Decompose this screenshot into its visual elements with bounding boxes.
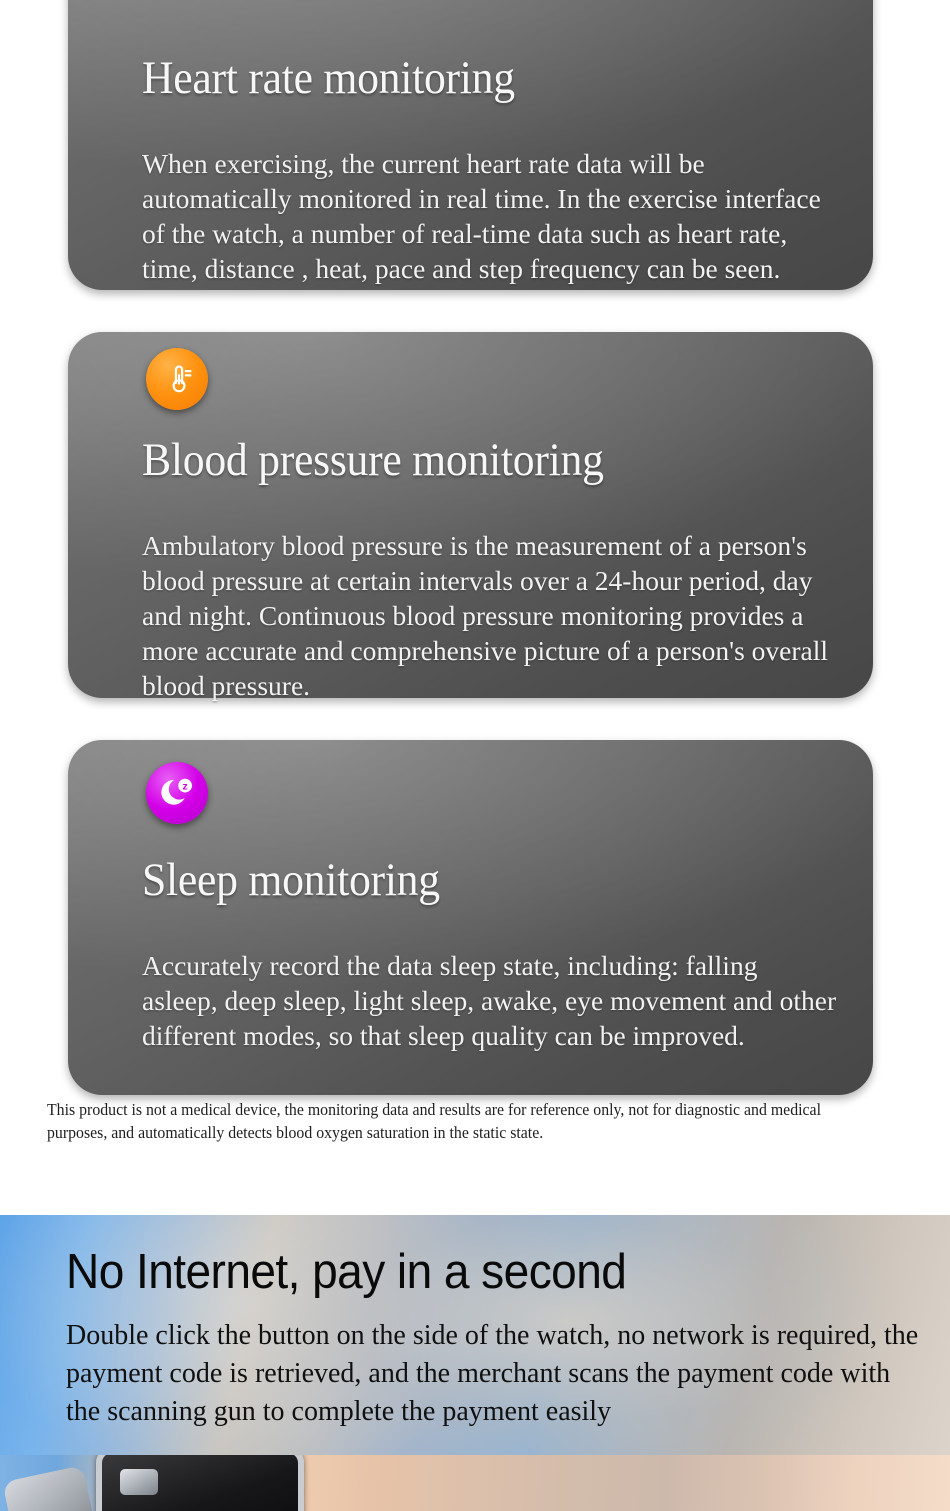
payment-banner: No Internet, pay in a second Double clic… — [0, 1215, 950, 1511]
feature-card-blood-pressure: Blood pressure monitoring Ambulatory blo… — [68, 332, 873, 698]
feature-card-sleep: z Sleep monitoring Accurately record the… — [68, 740, 873, 1095]
card-body: Ambulatory blood pressure is the measure… — [142, 528, 839, 703]
moon-z-icon: z — [146, 762, 208, 824]
payment-body: Double click the button on the side of t… — [66, 1317, 928, 1431]
thermometer-icon — [146, 348, 208, 410]
card-body: Accurately record the data sleep state, … — [142, 948, 839, 1053]
watch-band — [2, 1465, 96, 1511]
card-title: Heart rate monitoring — [142, 49, 790, 107]
card-body-text: Ambulatory blood pressure is the measure… — [142, 528, 839, 703]
svg-text:z: z — [182, 781, 187, 793]
card-title: Blood pressure monitoring — [142, 431, 790, 489]
payment-title: No Internet, pay in a second — [66, 1243, 876, 1301]
card-title: Sleep monitoring — [142, 851, 790, 909]
feature-card-heart-rate: Heart rate monitoring When exercising, t… — [68, 0, 873, 290]
card-body: When exercising, the current heart rate … — [142, 146, 839, 286]
medical-disclaimer: This product is not a medical device, th… — [47, 1098, 884, 1144]
payment-banner-content: No Internet, pay in a second Double clic… — [0, 1215, 950, 1431]
disclaimer-text: This product is not a medical device, th… — [47, 1098, 884, 1144]
smartwatch-on-wrist-photo — [0, 1455, 950, 1511]
card-body-text: Accurately record the data sleep state, … — [142, 948, 839, 1053]
card-body-text: When exercising, the current heart rate … — [142, 146, 839, 286]
watch-crown — [120, 1469, 158, 1495]
